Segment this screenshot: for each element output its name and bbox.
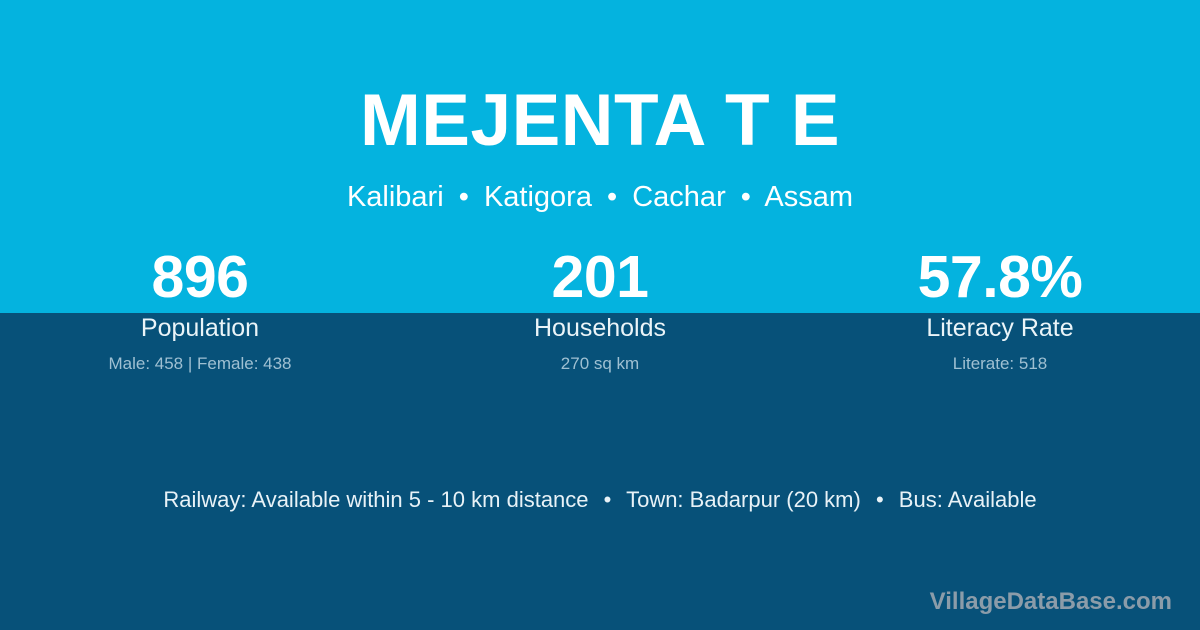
breadcrumb-separator: • bbox=[452, 181, 476, 213]
page-title: MEJENTA T E bbox=[0, 84, 1200, 157]
breadcrumb-part-block: Katigora bbox=[484, 181, 592, 213]
stat-population: 896 Population Male: 458 | Female: 438 bbox=[0, 246, 400, 375]
breadcrumb-part-village: Kalibari bbox=[347, 181, 444, 213]
info-bus: Bus: Available bbox=[899, 487, 1037, 512]
stat-sub-population: Male: 458 | Female: 438 bbox=[0, 353, 400, 375]
card-content: MEJENTA T E Kalibari • Katigora • Cachar… bbox=[0, 0, 1200, 630]
info-town: Town: Badarpur (20 km) bbox=[626, 487, 861, 512]
info-railway: Railway: Available within 5 - 10 km dist… bbox=[163, 487, 588, 512]
stat-households: 201 Households 270 sq km bbox=[400, 246, 800, 375]
stat-sub-households: 270 sq km bbox=[400, 353, 800, 375]
stats-row: 896 Population Male: 458 | Female: 438 2… bbox=[0, 246, 1200, 375]
village-info-card: MEJENTA T E Kalibari • Katigora • Cachar… bbox=[0, 0, 1200, 630]
breadcrumb-separator: • bbox=[600, 181, 624, 213]
breadcrumb-location: Kalibari • Katigora • Cachar • Assam bbox=[0, 180, 1200, 215]
stat-label-population: Population bbox=[0, 313, 400, 344]
site-watermark: VillageDataBase.com bbox=[930, 587, 1172, 617]
stat-value-population: 896 bbox=[0, 246, 400, 308]
stat-literacy-rate: 57.8% Literacy Rate Literate: 518 bbox=[800, 246, 1200, 375]
stat-value-literacy-rate: 57.8% bbox=[800, 246, 1200, 308]
stat-label-literacy-rate: Literacy Rate bbox=[800, 313, 1200, 344]
info-separator: • bbox=[867, 487, 893, 512]
breadcrumb-separator: • bbox=[734, 181, 758, 213]
stat-value-households: 201 bbox=[400, 246, 800, 308]
stat-sub-literacy-rate: Literate: 518 bbox=[800, 353, 1200, 375]
breadcrumb-part-state: Assam bbox=[764, 181, 853, 213]
breadcrumb-part-district: Cachar bbox=[632, 181, 726, 213]
info-separator: • bbox=[595, 487, 621, 512]
amenities-info-line: Railway: Available within 5 - 10 km dist… bbox=[0, 485, 1200, 515]
stat-label-households: Households bbox=[400, 313, 800, 344]
